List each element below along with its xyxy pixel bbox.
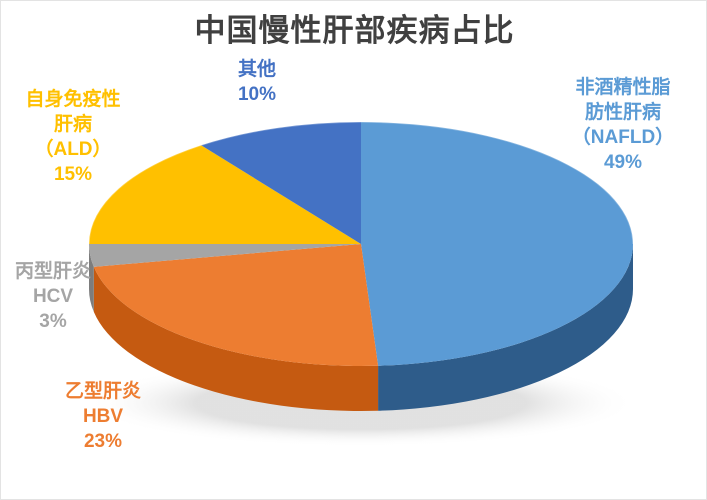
pie-label-nafld: 非酒精性脂 肪性肝病 （NAFLD） 49%	[548, 75, 698, 175]
pie-label-other-percent: 10%	[197, 82, 317, 107]
pie-label-hbv-line2: HBV	[83, 406, 123, 427]
pie-label-nafld-line1: 非酒精性脂	[575, 77, 670, 98]
pie-label-hcv-line1: 丙型肝炎	[15, 261, 91, 282]
pie-label-other: 其他 10%	[197, 57, 317, 107]
pie-label-ald: 自身免疫性 肝病 （ALD） 15%	[3, 87, 143, 187]
pie-label-ald-line3: （ALD）	[34, 139, 111, 160]
pie-label-hcv-percent: 3%	[1, 309, 105, 334]
pie-label-hbv-line1: 乙型肝炎	[65, 381, 141, 402]
pie-label-hcv: 丙型肝炎 HCV 3%	[1, 259, 105, 334]
chart-canvas: 中国慢性肝部疾病占比	[0, 0, 707, 500]
pie-label-hbv: 乙型肝炎 HBV 23%	[33, 379, 173, 454]
pie-label-hbv-percent: 23%	[33, 429, 173, 454]
pie-label-nafld-percent: 49%	[548, 150, 698, 175]
pie-label-nafld-line2: 肪性肝病	[585, 102, 661, 123]
pie-label-ald-line1: 自身免疫性	[25, 89, 120, 110]
pie-label-ald-percent: 15%	[3, 162, 143, 187]
pie-label-nafld-line3: （NAFLD）	[572, 127, 674, 148]
pie-label-ald-line2: 肝病	[54, 114, 92, 135]
pie-label-other-line1: 其他	[238, 59, 276, 80]
pie-label-hcv-line2: HCV	[33, 286, 73, 307]
